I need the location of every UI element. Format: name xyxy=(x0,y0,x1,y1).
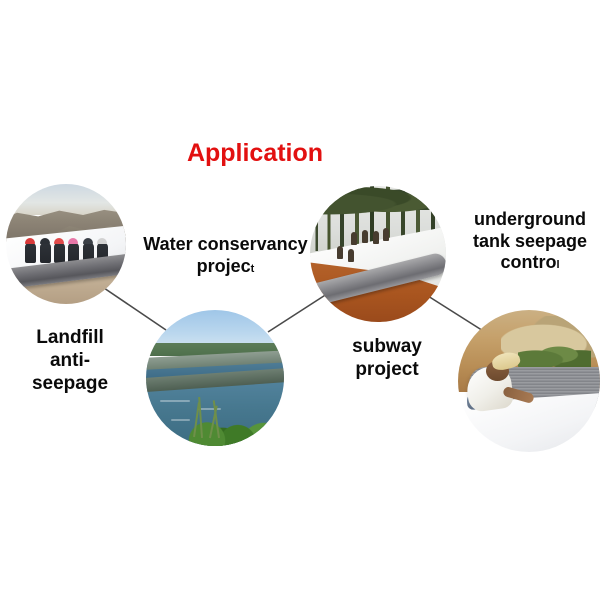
subway-project-photo xyxy=(310,186,446,322)
caption-line: anti- xyxy=(10,350,130,373)
caption-clipped-letter: t xyxy=(251,263,255,275)
worker-figure xyxy=(54,243,65,263)
caption-line: Landfill xyxy=(10,327,130,350)
hard-hat-icon xyxy=(97,238,107,244)
caption-line: subway xyxy=(325,336,449,359)
caption-line: project xyxy=(325,359,449,382)
water-ripple xyxy=(160,400,190,402)
caption-line-text: projec xyxy=(197,256,251,276)
caption-line: seepage xyxy=(10,373,130,396)
hard-hat-icon xyxy=(54,238,64,244)
worker-figure xyxy=(25,243,36,263)
hard-hat-icon xyxy=(83,238,93,244)
worker-figure xyxy=(362,230,368,243)
water-conservancy-photo xyxy=(146,310,284,446)
hard-hat-icon xyxy=(40,238,50,244)
tree-canopy-layer xyxy=(310,186,446,216)
water-ripple xyxy=(198,408,220,410)
worker-figure xyxy=(337,246,343,259)
caption-line: underground xyxy=(460,209,600,231)
page-title: Application xyxy=(0,138,510,168)
worker-figure xyxy=(40,243,51,263)
landfill-anti-seepage-photo xyxy=(6,184,126,304)
caption-line: Water conservancy xyxy=(133,234,318,256)
caption-water-conservancy: Water conservancy project xyxy=(133,234,318,277)
worker-figure xyxy=(351,232,357,245)
hard-hat-icon xyxy=(25,238,35,244)
caption-clipped-letter: l xyxy=(556,259,559,271)
caption-line: project xyxy=(133,256,318,278)
underground-tank-seepage-photo xyxy=(458,310,600,452)
caption-underground-tank-seepage: underground tank seepage control xyxy=(460,209,600,274)
foreground-plants-layer xyxy=(174,416,284,446)
application-diagram: Application xyxy=(0,0,600,600)
worker-figure xyxy=(373,231,379,244)
worker-figure xyxy=(348,249,354,262)
caption-subway-project: subway project xyxy=(325,336,449,382)
hard-hat-icon xyxy=(68,238,78,244)
caption-line-text: contro xyxy=(500,252,556,272)
caption-line: control xyxy=(460,252,600,274)
worker-figure xyxy=(383,228,389,241)
caption-landfill-anti-seepage: Landfill anti- seepage xyxy=(10,327,130,395)
caption-line: tank seepage xyxy=(460,231,600,253)
